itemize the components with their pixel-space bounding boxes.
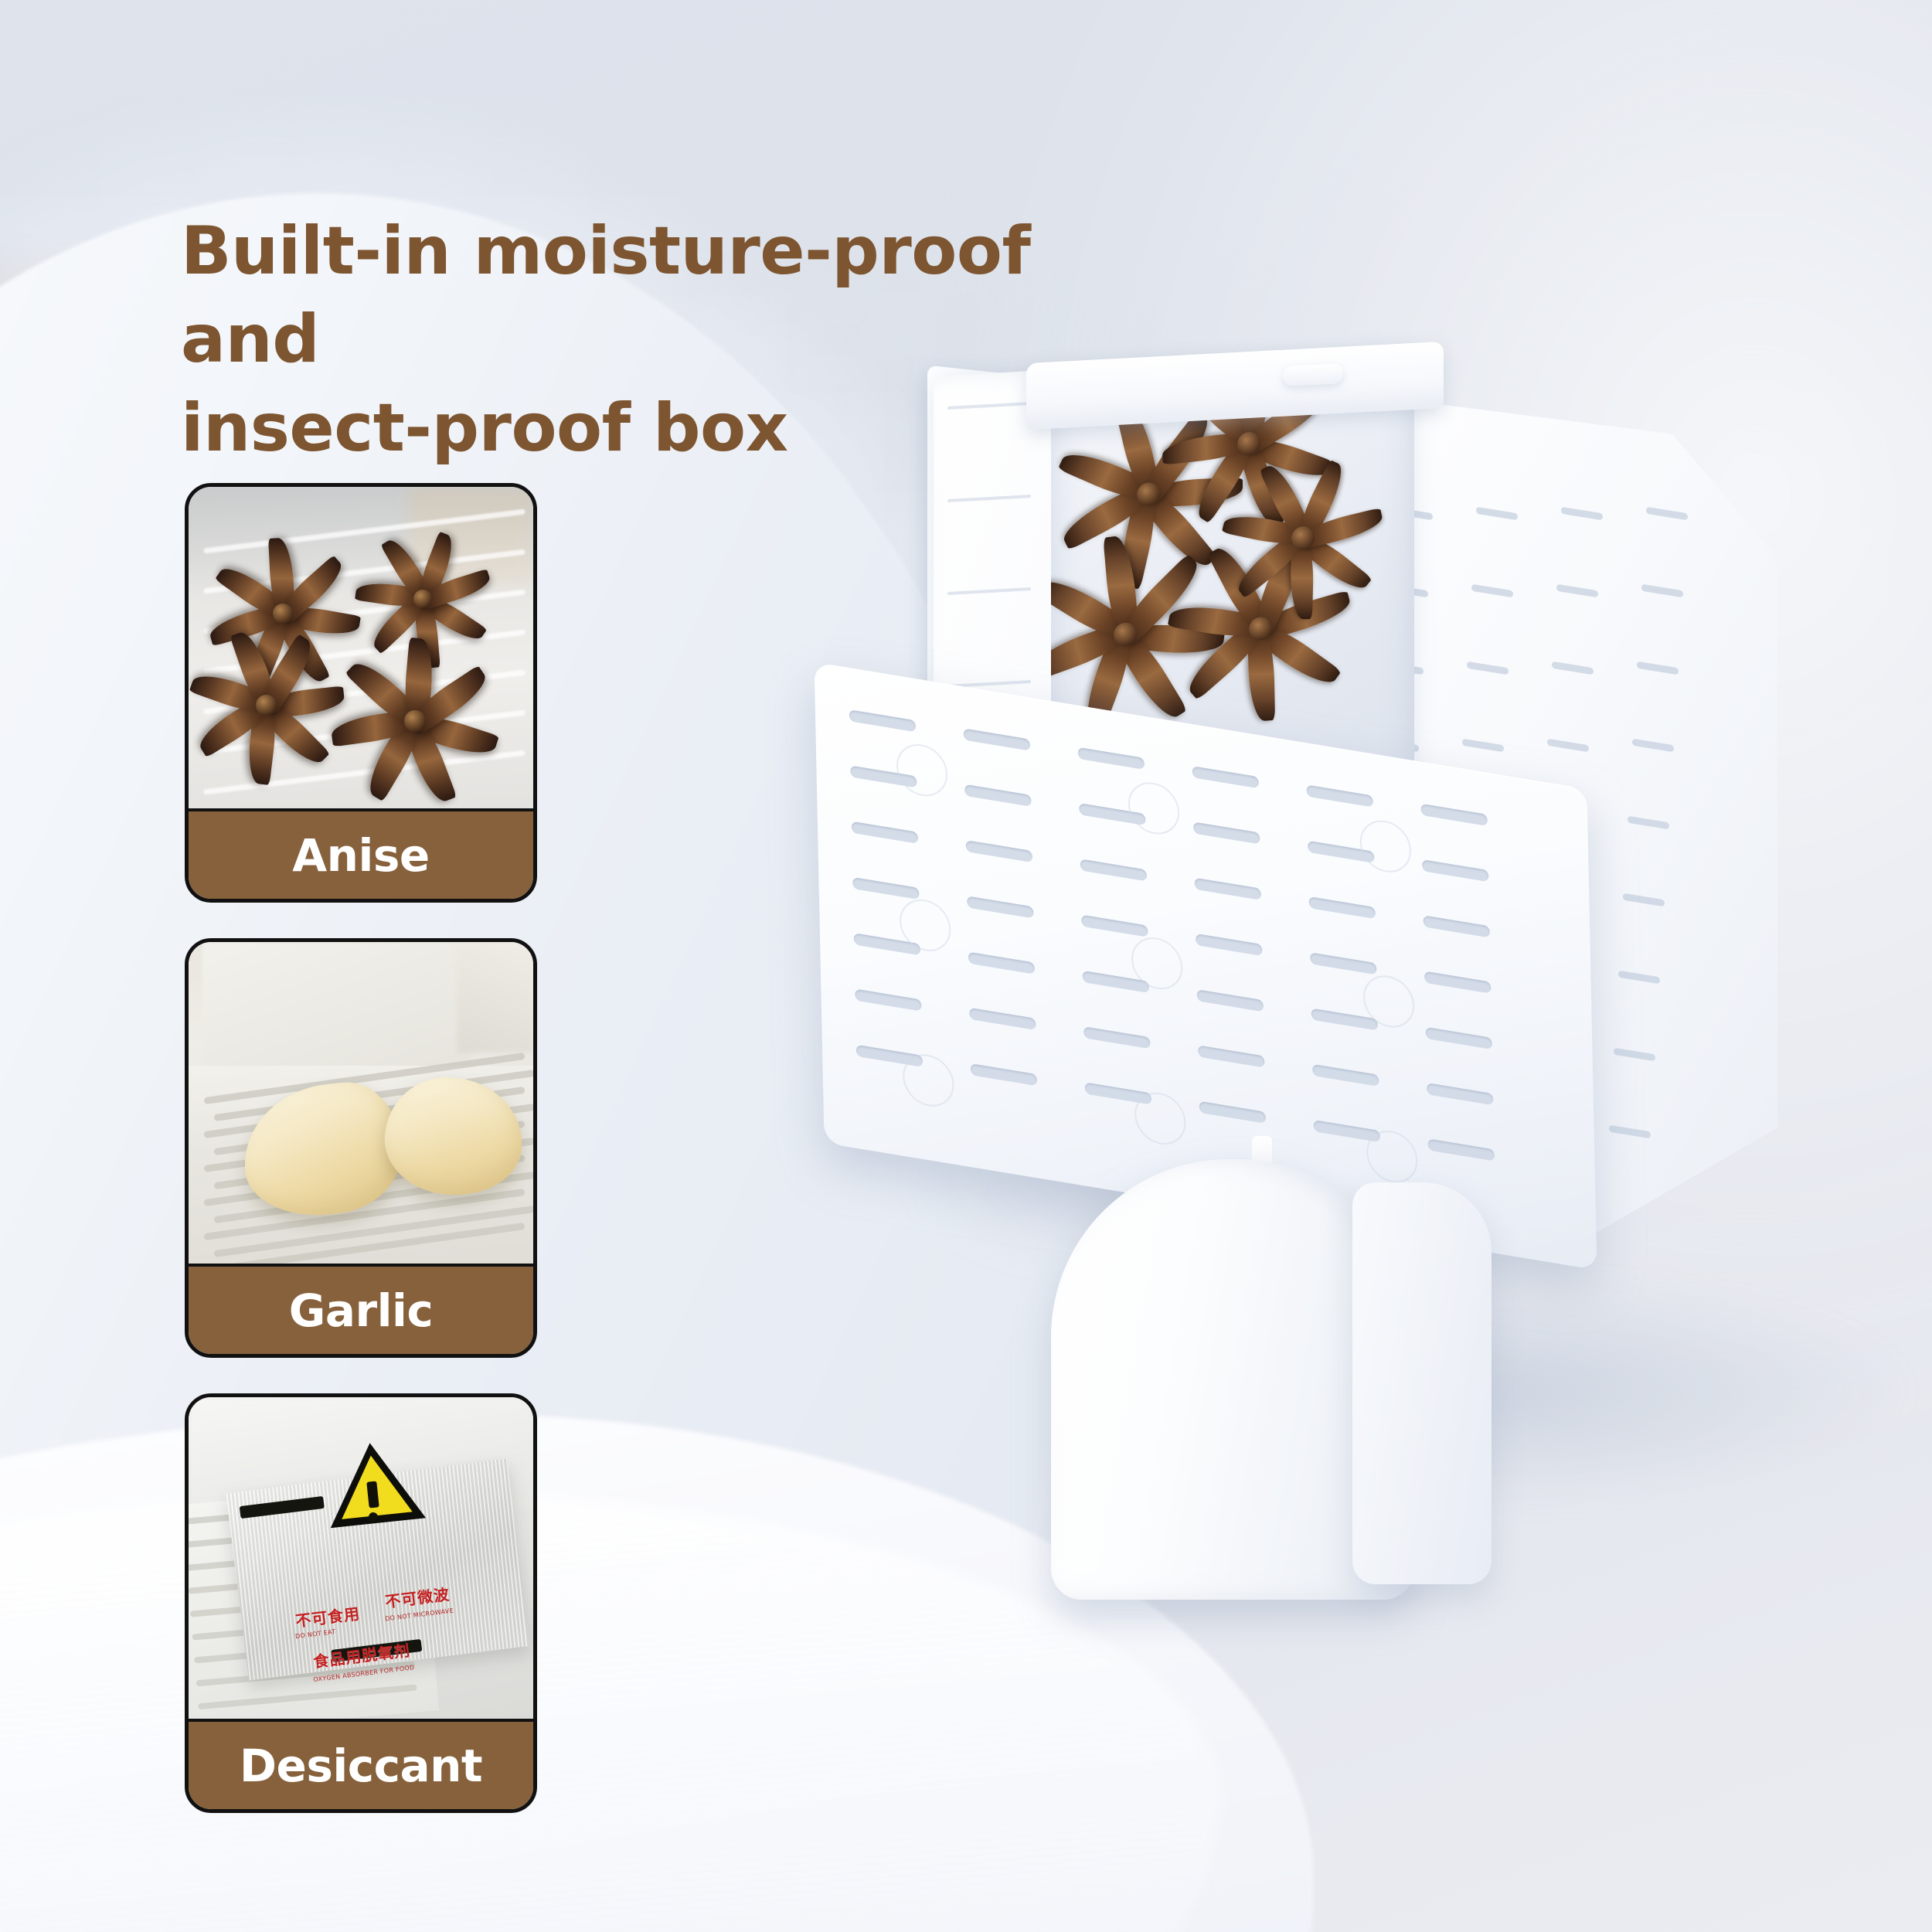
card-caption-label: Garlic — [289, 1284, 434, 1337]
wing-slot — [1552, 662, 1594, 675]
wing-slot — [1623, 893, 1665, 907]
tray-slot — [964, 728, 1030, 750]
tray-slot — [1197, 989, 1264, 1012]
card-photo-garlic — [189, 942, 533, 1267]
wing-slot — [1628, 816, 1669, 830]
page-title: Built-in moisture-proof and insect-proof… — [181, 207, 1147, 472]
tray-slot — [1083, 1026, 1150, 1049]
tray-slot — [1080, 859, 1147, 881]
card-caption-garlic: Garlic — [189, 1264, 533, 1354]
back-rib — [947, 587, 1031, 595]
tray-slot — [1423, 915, 1490, 937]
feature-card-desiccant[interactable]: 不可食用 不可微波 DO NOT EAT DO NOT MICROWAVE 食品… — [185, 1393, 537, 1813]
feature-card-garlic[interactable]: Garlic — [185, 938, 537, 1358]
back-rib — [947, 495, 1031, 502]
tray-slot — [969, 1008, 1036, 1030]
tray-slot — [1421, 804, 1488, 826]
wing-slot — [1609, 1125, 1651, 1139]
tray-slot — [1195, 878, 1261, 900]
garlic-box-wall-right — [457, 942, 533, 1053]
tray-slot — [1199, 1101, 1266, 1124]
tray-slot — [967, 896, 1033, 918]
card-caption-label: Desiccant — [240, 1740, 482, 1792]
wing-slot — [1637, 662, 1679, 675]
tray-slot — [971, 1063, 1037, 1086]
garlic-photo-scene — [189, 942, 533, 1267]
product-photo — [819, 363, 1932, 1600]
tray-slot — [852, 821, 918, 844]
tray-slot — [1310, 952, 1376, 975]
tray-slot — [1309, 896, 1376, 919]
tray-circle — [896, 740, 947, 800]
card-photo-desiccant: 不可食用 不可微波 DO NOT EAT DO NOT MICROWAVE 食品… — [189, 1397, 533, 1722]
tray-slot — [1078, 747, 1145, 770]
card-caption-label: Anise — [292, 829, 429, 882]
product-lid-tab — [1283, 363, 1343, 386]
tray-slot — [1193, 821, 1260, 844]
feature-card-anise[interactable]: Anise — [185, 483, 537, 903]
tray-circle — [1128, 778, 1179, 838]
anise-core — [256, 695, 277, 716]
tray-slot — [852, 877, 919, 900]
desiccant-photo-scene: 不可食用 不可微波 DO NOT EAT DO NOT MICROWAVE 食品… — [189, 1397, 533, 1722]
tray-slot — [1428, 1138, 1495, 1161]
anise-core — [273, 604, 293, 624]
wing-slot — [1462, 739, 1504, 753]
feature-card-list: Anise Garlic — [185, 483, 537, 1849]
tray-slot — [1307, 784, 1373, 807]
tray-slot — [855, 988, 921, 1011]
card-caption-anise: Anise — [189, 808, 533, 899]
tray-circle — [1366, 1127, 1418, 1186]
tray-slot — [849, 709, 916, 732]
wing-slot — [1614, 1048, 1655, 1062]
tray-circle — [1359, 817, 1411, 876]
wing-slot — [1547, 739, 1589, 753]
wing-slot — [1646, 507, 1688, 521]
tray-slot — [1081, 915, 1148, 937]
tray-slot — [1424, 971, 1491, 994]
wing-slot — [1471, 584, 1513, 598]
tray-slot — [1198, 1045, 1264, 1067]
wing-slot — [1467, 662, 1509, 675]
tray-slot — [968, 951, 1035, 974]
card-photo-anise — [189, 487, 533, 811]
product-clip-arm — [1352, 1182, 1492, 1584]
tray-slot — [1196, 934, 1262, 956]
wing-slot — [1556, 584, 1598, 598]
tray-slot — [964, 784, 1031, 807]
wing-slot — [1618, 971, 1660, 985]
tray-slot — [966, 840, 1032, 862]
wing-slot — [1561, 507, 1603, 521]
card-caption-desiccant: Desiccant — [189, 1719, 533, 1809]
tray-circle — [1134, 1089, 1186, 1148]
desiccant-tray-line — [198, 1684, 417, 1709]
tray-slot — [1422, 859, 1488, 882]
tray-slot — [1426, 1027, 1492, 1049]
tray-slot — [1312, 1064, 1379, 1087]
tray-slot-group — [849, 709, 1566, 1229]
wing-slot — [1632, 739, 1674, 753]
tray-circle — [903, 1051, 954, 1111]
product-feature-banner: Built-in moisture-proof and insect-proof… — [0, 0, 1932, 1932]
tray-slot — [1427, 1083, 1493, 1105]
anise-core — [404, 710, 426, 732]
anise-photo-scene — [189, 487, 533, 811]
wing-slot — [1641, 584, 1683, 598]
wing-slot — [1476, 507, 1518, 521]
tray-slot — [1192, 766, 1259, 788]
